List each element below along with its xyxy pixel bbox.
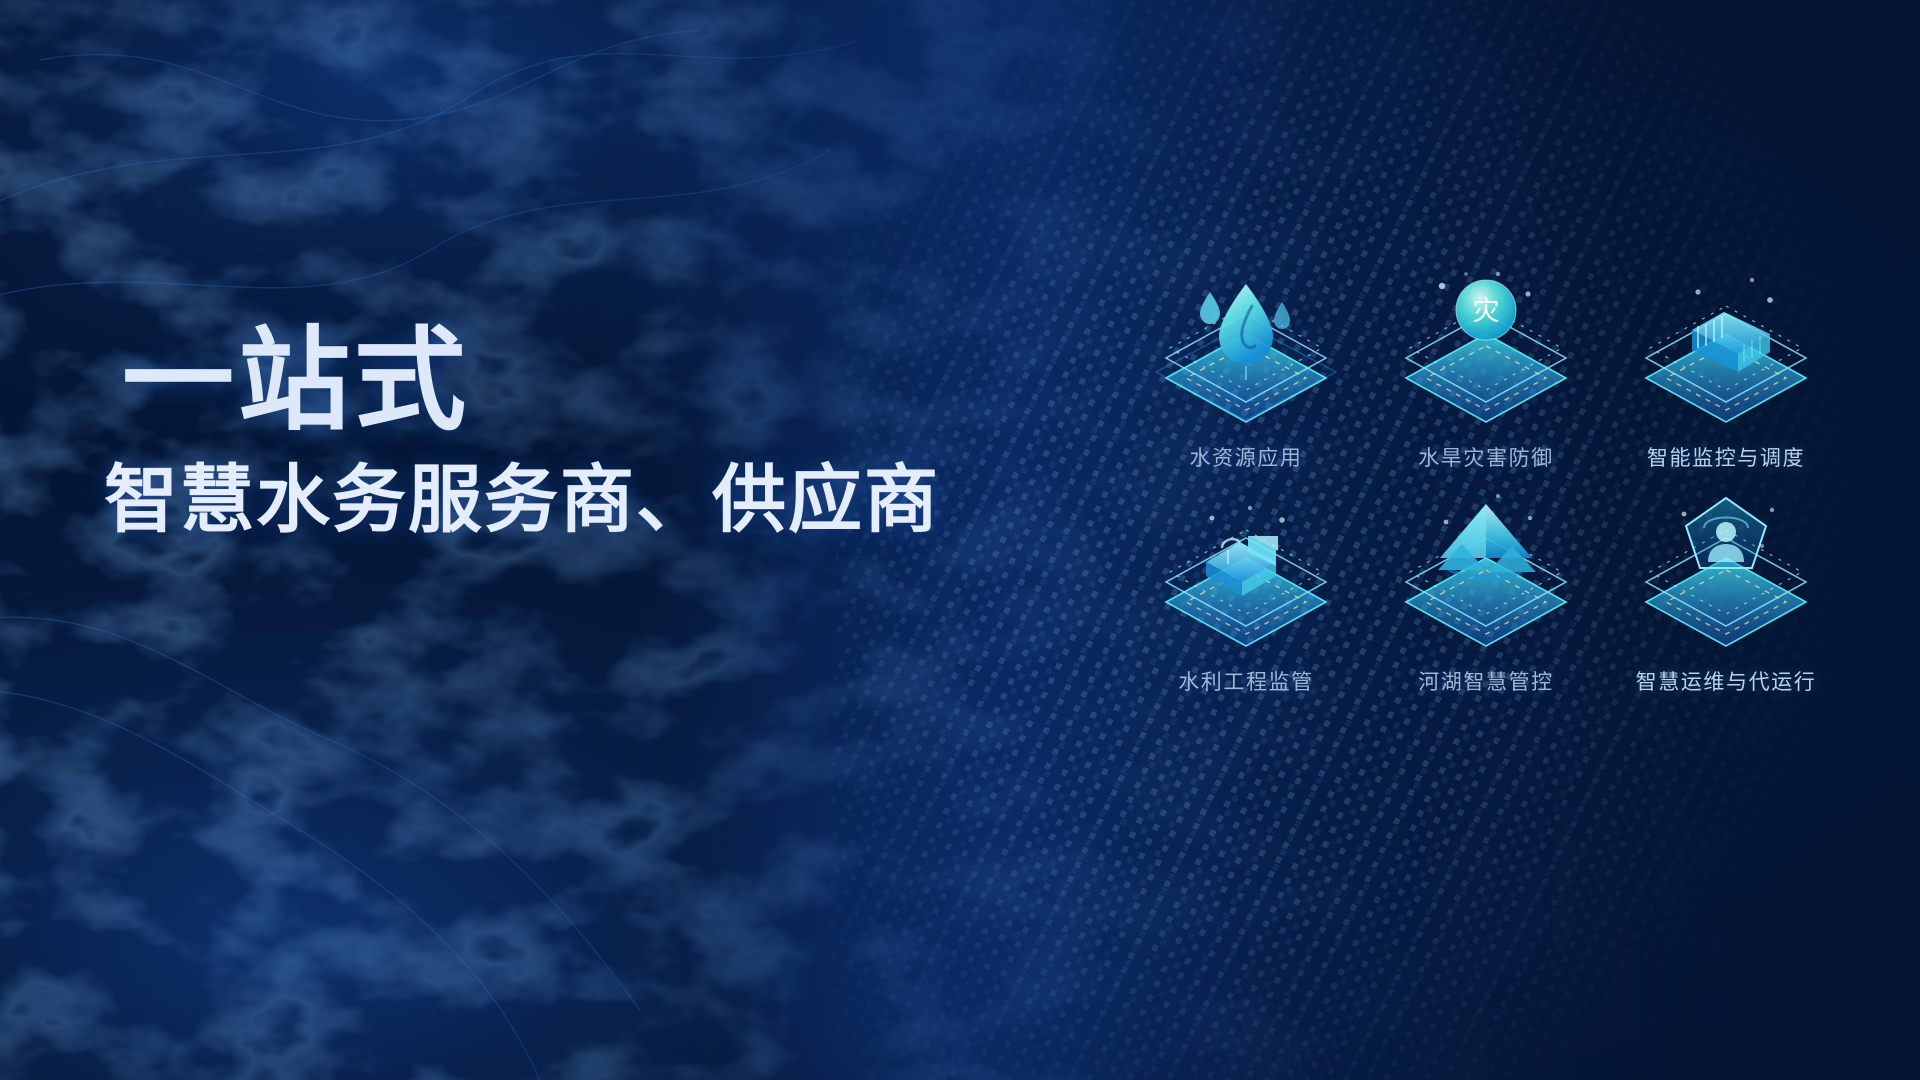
hydro-structure-icon	[1140, 492, 1352, 664]
capability-label: 智能监控与调度	[1647, 442, 1805, 472]
dam-gate-icon	[1620, 268, 1832, 440]
capability-item-hydraulic-supervision[interactable]: 水利工程监管	[1140, 492, 1352, 716]
capability-label: 水利工程监管	[1178, 666, 1314, 696]
capability-item-water-resource[interactable]: 水资源应用	[1140, 268, 1352, 492]
capability-label: 智慧运维与代运行	[1636, 666, 1817, 696]
water-drop-icon	[1140, 268, 1352, 440]
capability-item-smart-ops[interactable]: 智慧运维与代运行	[1620, 492, 1832, 716]
page-title: 一站式	[122, 322, 1022, 441]
shield-operator-icon	[1620, 492, 1832, 664]
capability-label: 水旱灾害防御	[1418, 442, 1554, 472]
page-subtitle: 智慧水务服务商、供应商	[104, 459, 1022, 542]
capability-grid: 水资源应用	[1140, 268, 1832, 716]
hero-text-block: 一站式 智慧水务服务商、供应商	[122, 322, 1022, 542]
river-mountain-icon	[1380, 492, 1592, 664]
slide-canvas: 一站式 智慧水务服务商、供应商	[0, 0, 1920, 1080]
capability-label: 河湖智慧管控	[1418, 666, 1554, 696]
disaster-sphere-icon: 灾	[1380, 268, 1592, 440]
capability-item-smart-monitoring[interactable]: 智能监控与调度	[1620, 268, 1832, 492]
capability-label: 水资源应用	[1190, 442, 1303, 472]
disaster-glyph: 灾	[1473, 296, 1500, 326]
capability-item-flood-drought-defense[interactable]: 灾 水旱灾害防御	[1380, 268, 1592, 492]
capability-item-river-lake-control[interactable]: 河湖智慧管控	[1380, 492, 1592, 716]
